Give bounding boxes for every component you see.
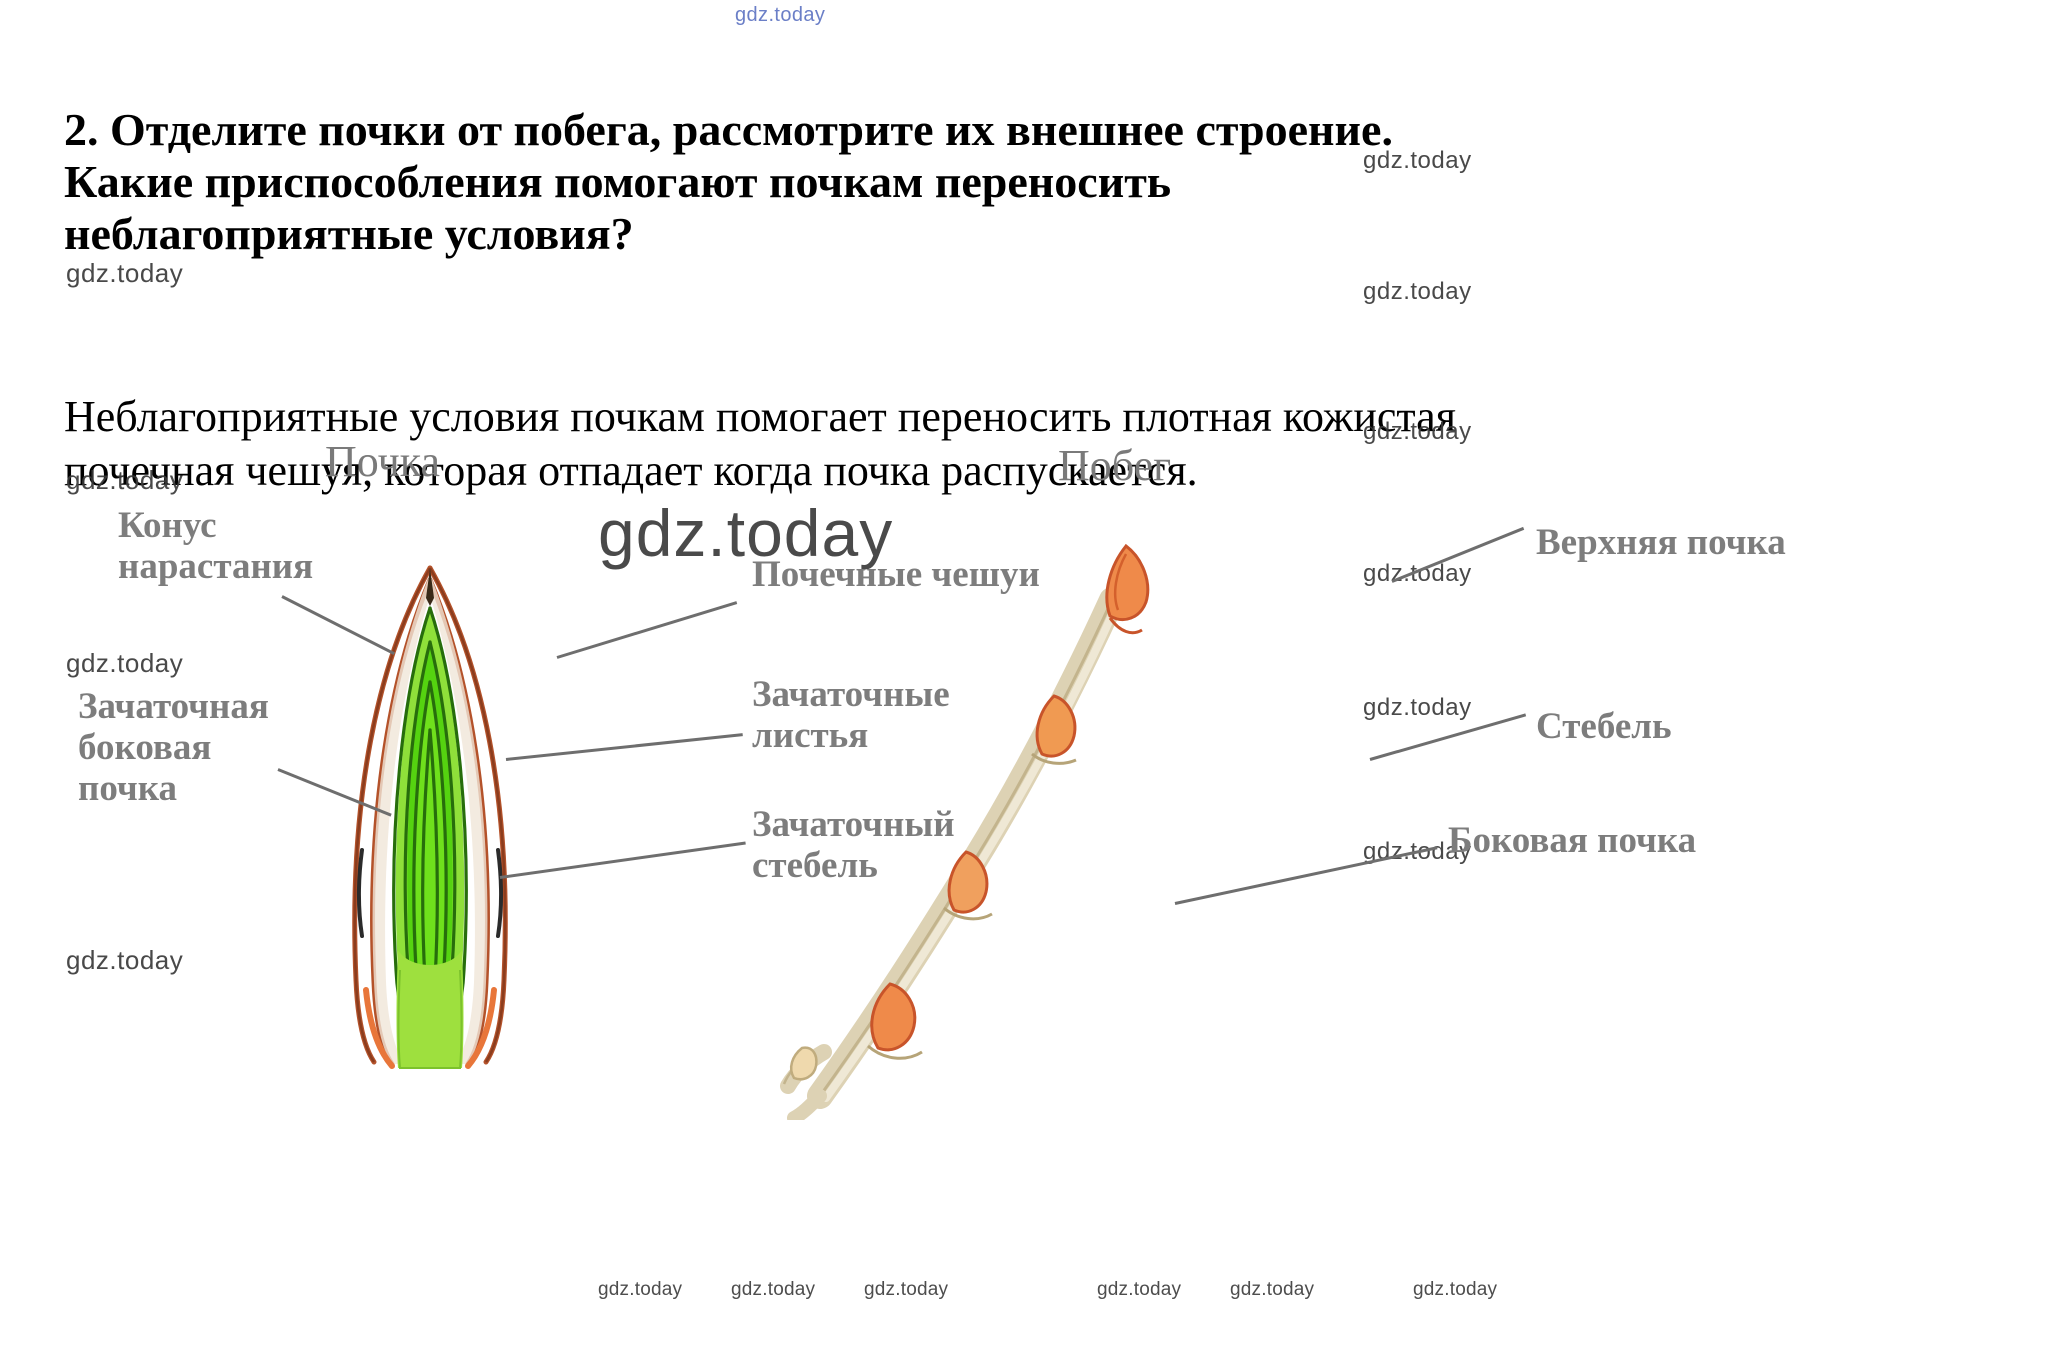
leader-lateral-bud (1175, 846, 1438, 905)
label-lateral-bud: Боковая почка (1448, 820, 1696, 861)
label-apical-bud: Верхняя почка (1536, 522, 1786, 563)
label-rudimentary-lateral-bud: Зачаточная боковая почка (78, 686, 269, 809)
label-rudimentary-leaves: Зачаточные листья (752, 674, 950, 756)
biology-diagram: Почка Побег (0, 420, 2065, 1361)
bud-cross-section-illustration (300, 550, 560, 1070)
label-stem: Стебель (1536, 706, 1672, 747)
label-growth-cone: Конус нарастания (118, 505, 313, 587)
watermark-top-center: gdz.today (735, 4, 825, 27)
leader-apical-bud (1391, 527, 1524, 583)
figure-title-bud: Почка (325, 436, 440, 487)
page-root: gdz.today 2. Отделите почки от побега, р… (0, 0, 2065, 1361)
watermark-above-answer-left: gdz.today (66, 258, 183, 289)
label-rudimentary-stem: Зачаточный стебель (752, 804, 955, 886)
label-bud-scales: Почечные чешуи (752, 554, 1040, 595)
watermark-answer-right: gdz.today (1363, 278, 1472, 306)
leader-stem (1370, 713, 1527, 761)
watermark-heading-right: gdz.today (1363, 147, 1472, 175)
leader-bud-scales (557, 601, 738, 659)
page-title: 2. Отделите почки от побега, рассмотрите… (64, 104, 1494, 260)
figure-title-shoot: Побег (1058, 440, 1171, 491)
